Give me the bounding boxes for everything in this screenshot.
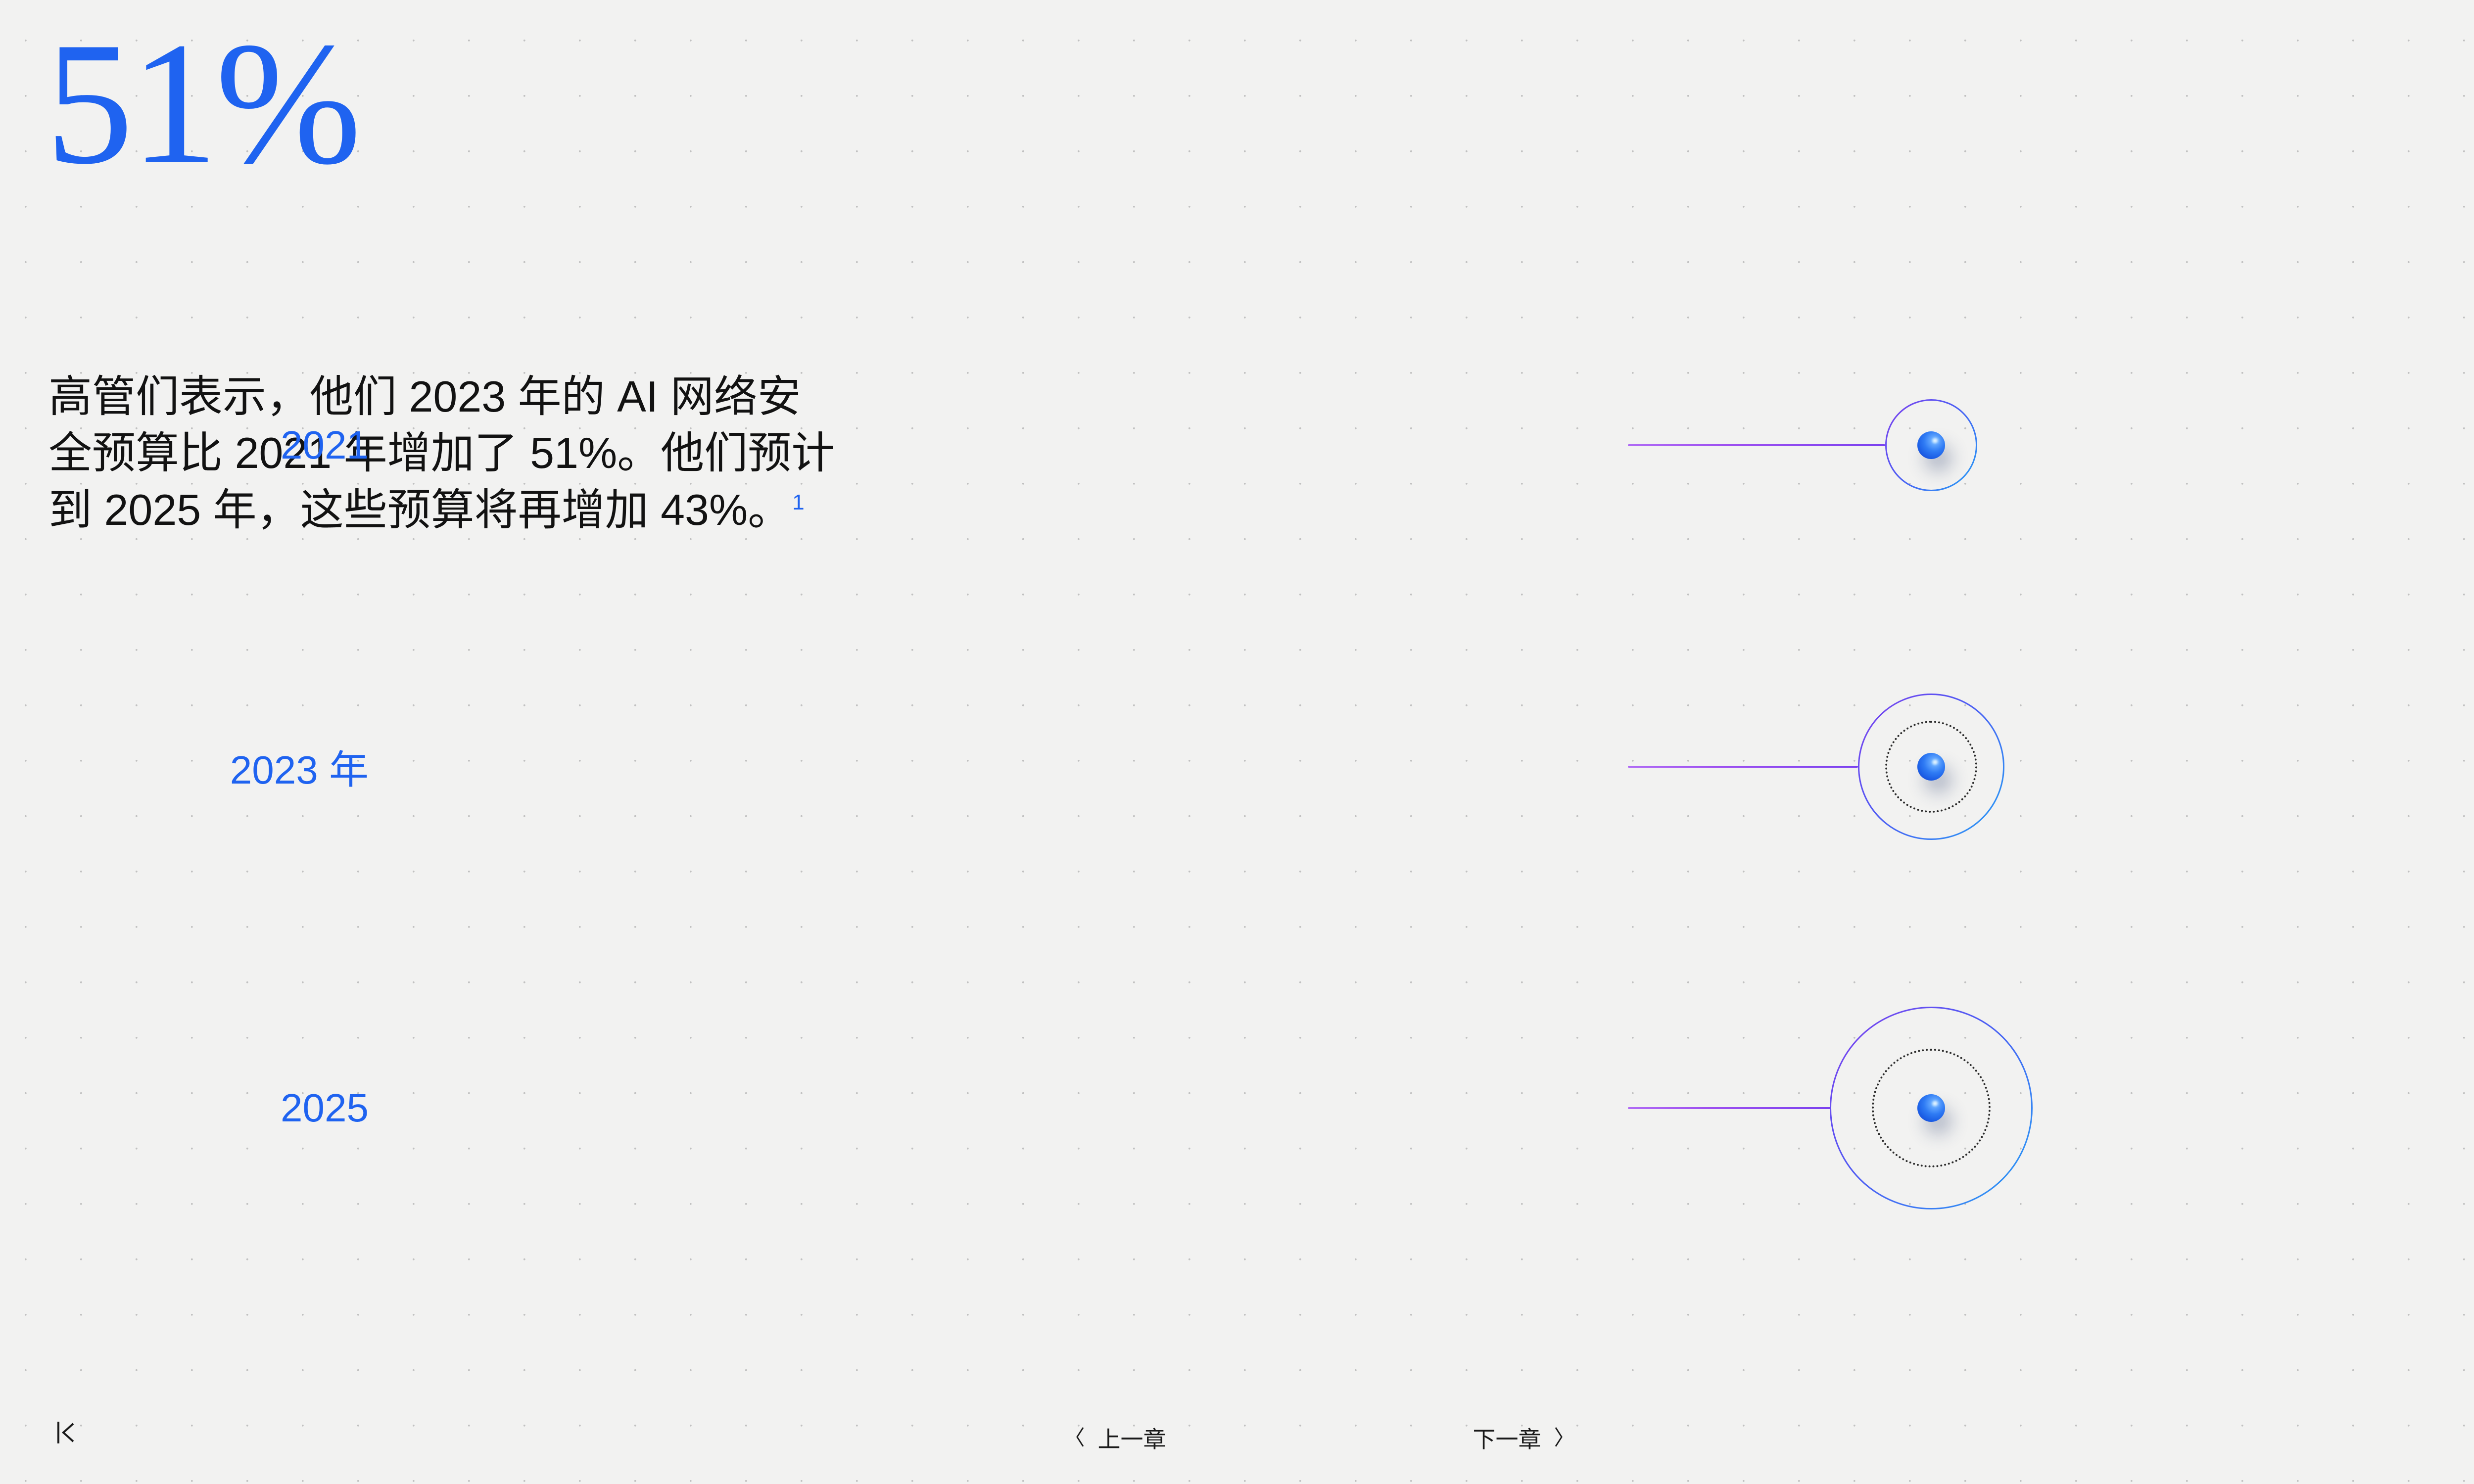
first-page-button[interactable] bbox=[55, 1420, 77, 1445]
chart-marker-2023 bbox=[1917, 753, 1945, 781]
chapter-navigation: 〈 上一章 下一章 〉 bbox=[1064, 1422, 1574, 1454]
chart-marker-2021 bbox=[1917, 431, 1945, 459]
body-paragraph-text: 高管们表示，他们 2023 年的 AI 网络安全预算比 2021 年增加了 51… bbox=[48, 372, 835, 534]
chart-connector-2021 bbox=[1628, 444, 1885, 446]
body-paragraph: 高管们表示，他们 2023 年的 AI 网络安全预算比 2021 年增加了 51… bbox=[48, 369, 840, 538]
chevron-left-icon: 〈 bbox=[1064, 1428, 1085, 1448]
previous-chapter-label: 上一章 bbox=[1098, 1422, 1166, 1454]
chart-marker-2025 bbox=[1917, 1094, 1945, 1122]
slide-canvas: 51% 高管们表示，他们 2023 年的 AI 网络安全预算比 2021 年增加… bbox=[0, 0, 2474, 1484]
next-chapter-label: 下一章 bbox=[1473, 1422, 1541, 1454]
footer-bar: 〈 上一章 下一章 〉 8 bbox=[0, 1395, 2474, 1484]
chart-label-2021: 2021 bbox=[281, 422, 369, 468]
next-chapter-button[interactable]: 下一章 〉 bbox=[1473, 1422, 1575, 1454]
chart-connector-2025 bbox=[1628, 1107, 1831, 1109]
chevron-right-icon: 〉 bbox=[1554, 1428, 1575, 1448]
jump-to-first-icon bbox=[55, 1420, 77, 1445]
bubble-chart: 2021 2023 bbox=[1286, 307, 2474, 1336]
chart-label-2023: 2023 年 bbox=[230, 738, 369, 795]
chart-connector-2023 bbox=[1628, 766, 1858, 768]
page-title-statistic: 51% bbox=[46, 20, 359, 186]
chart-label-2025: 2025 bbox=[281, 1085, 369, 1131]
footnote-marker: 1 bbox=[792, 490, 804, 514]
previous-chapter-button[interactable]: 〈 上一章 bbox=[1064, 1422, 1166, 1454]
